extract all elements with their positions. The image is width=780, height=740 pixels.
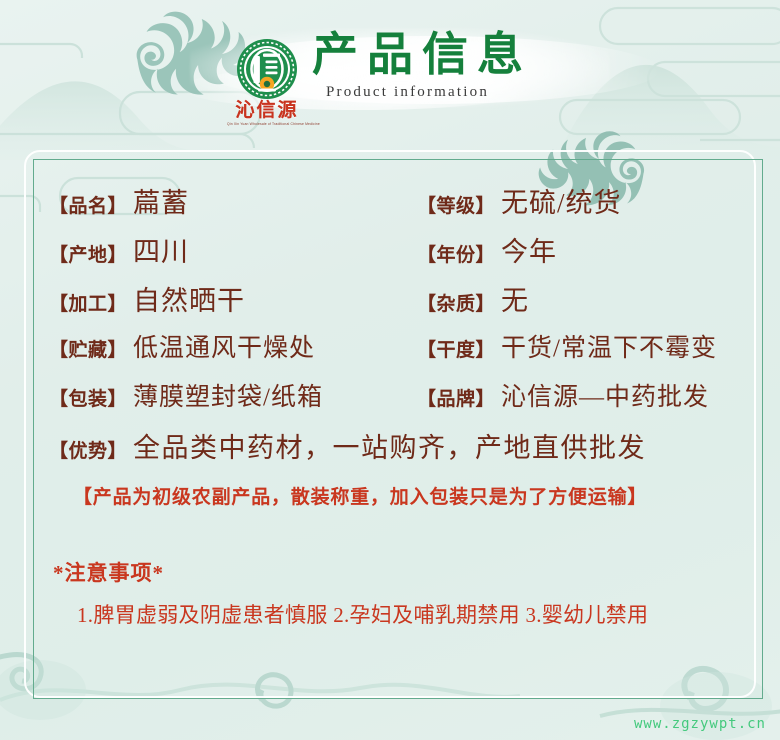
product-info-page: 沁信源 Qin Xin Yuan Wholesale of Traditiona…	[0, 0, 780, 740]
site-watermark: www.zgzywpt.cn	[634, 716, 766, 732]
spec-label: 【年份】	[417, 240, 495, 267]
spec-value: 干货/常温下不霉变	[501, 328, 717, 364]
spec-row: 【包装】 薄膜塑封袋/纸箱 【品牌】 沁信源—中药批发	[49, 377, 747, 426]
spec-item-zhucang: 【贮藏】 低温通风干燥处	[49, 328, 417, 364]
caution-title: *注意事项*	[53, 557, 747, 587]
spec-item-pinming: 【品名】 萹蓄	[49, 181, 417, 220]
spec-row: 【品名】 萹蓄 【等级】 无硫/统货	[49, 181, 747, 230]
spec-item-baozhuang: 【包装】 薄膜塑封袋/纸箱	[49, 377, 417, 413]
spec-row: 【贮藏】 低温通风干燥处 【干度】 干货/常温下不霉变	[49, 328, 747, 377]
logo-brand-name: 沁信源	[227, 101, 307, 120]
spec-value: 萹蓄	[133, 181, 189, 220]
spec-label: 【品名】	[49, 191, 127, 218]
spec-label: 【优势】	[49, 436, 127, 463]
spec-value: 薄膜塑封袋/纸箱	[133, 377, 323, 413]
spec-label: 【贮藏】	[49, 335, 127, 362]
spec-item-nianfen: 【年份】 今年	[417, 230, 747, 269]
spec-row: 【加工】 自然晒干 【杂质】 无	[49, 279, 747, 328]
spec-value: 低温通风干燥处	[133, 328, 315, 364]
spec-label: 【品牌】	[417, 384, 495, 411]
page-title-block: 产品信息 Product information	[312, 30, 612, 101]
spec-value: 沁信源—中药批发	[501, 377, 709, 413]
spec-value: 今年	[501, 230, 557, 269]
page-header: 沁信源 Qin Xin Yuan Wholesale of Traditiona…	[0, 0, 780, 150]
spec-label: 【加工】	[49, 289, 127, 316]
caution-section: *注意事项* 1.脾胃虚弱及阴虚患者慎服 2.孕妇及哺乳期禁用 3.婴幼儿禁用	[49, 557, 747, 630]
spec-item-gandu: 【干度】 干货/常温下不霉变	[417, 328, 747, 364]
spec-value: 全品类中药材，一站购齐，产地直供批发	[133, 426, 646, 465]
spec-item-dengji: 【等级】 无硫/统货	[417, 181, 747, 220]
page-subtitle: Product information	[326, 84, 612, 101]
spec-item-chandi: 【产地】 四川	[49, 230, 417, 269]
spec-row-advantage: 【优势】 全品类中药材，一站购齐，产地直供批发	[49, 426, 747, 478]
spec-item-pinpai: 【品牌】 沁信源—中药批发	[417, 377, 747, 413]
seal-xin-icon	[236, 38, 298, 100]
logo-brand-subtitle: Qin Xin Yuan Wholesale of Traditional Ch…	[227, 122, 307, 126]
spec-item-youshi: 【优势】 全品类中药材，一站购齐，产地直供批发	[49, 426, 646, 465]
spec-label: 【干度】	[417, 335, 495, 362]
spec-value: 四川	[133, 230, 189, 269]
spec-label: 【杂质】	[417, 289, 495, 316]
spec-value: 无	[501, 279, 529, 318]
spec-label: 【产地】	[49, 240, 127, 267]
spec-value: 无硫/统货	[501, 181, 622, 220]
spec-label: 【等级】	[417, 191, 495, 218]
page-title: 产品信息	[312, 30, 612, 80]
disclaimer-text: 【产品为初级农副产品，散装称重，加入包装只是为了方便运输】	[49, 482, 747, 509]
spec-value: 自然晒干	[133, 279, 245, 318]
spec-item-jiagong: 【加工】 自然晒干	[49, 279, 417, 318]
brand-logo: 沁信源 Qin Xin Yuan Wholesale of Traditiona…	[227, 38, 307, 132]
product-spec-panel: 【品名】 萹蓄 【等级】 无硫/统货 【产地】 四川 【年份】 今年 【加工】 …	[33, 159, 763, 699]
caution-body: 1.脾胃虚弱及阴虚患者慎服 2.孕妇及哺乳期禁用 3.婴幼儿禁用	[53, 600, 747, 630]
spec-row: 【产地】 四川 【年份】 今年	[49, 230, 747, 279]
spec-item-zazhi: 【杂质】 无	[417, 279, 747, 318]
spec-label: 【包装】	[49, 384, 127, 411]
